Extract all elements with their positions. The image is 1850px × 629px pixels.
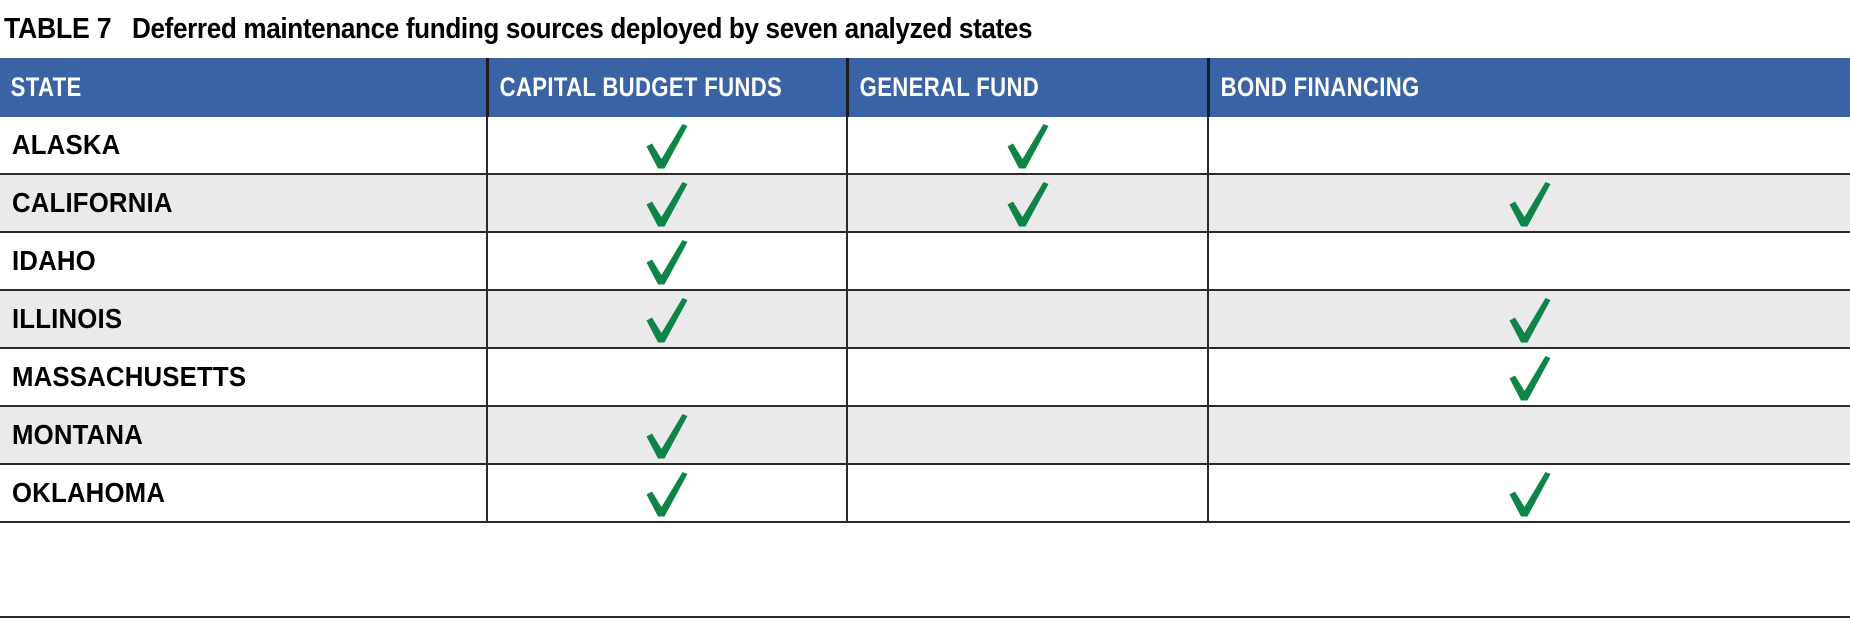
- funding-source-cell-bond: [1208, 232, 1850, 290]
- funding-source-cell-bond: [1208, 348, 1850, 406]
- check-mark-icon: [1504, 467, 1556, 519]
- state-name-cell: MONTANA: [0, 406, 487, 464]
- state-name-label: ILLINOIS: [0, 303, 447, 335]
- funding-source-cell-general: [847, 348, 1208, 406]
- table-page: TABLE 7 Deferred maintenance funding sou…: [0, 0, 1850, 629]
- column-header-capital-budget-funds-label: CAPITAL BUDGET FUNDS: [489, 72, 782, 103]
- state-name-cell: CALIFORNIA: [0, 174, 487, 232]
- funding-source-cell-capital: [487, 464, 847, 522]
- check-mark-icon: [1504, 351, 1556, 403]
- table-row: ILLINOIS: [0, 290, 1850, 348]
- table-header: STATE CAPITAL BUDGET FUNDS GENERAL FUND …: [0, 58, 1850, 117]
- funding-source-cell-general: [847, 464, 1208, 522]
- column-header-bond-financing-label: BOND FINANCING: [1210, 72, 1735, 103]
- state-name-label: CALIFORNIA: [0, 187, 447, 219]
- table-row: CALIFORNIA: [0, 174, 1850, 232]
- column-header-state-label: STATE: [0, 72, 398, 103]
- column-header-state: STATE: [0, 58, 487, 117]
- state-name-cell: ALASKA: [0, 117, 487, 174]
- table-row: IDAHO: [0, 232, 1850, 290]
- table-bottom-rule: [0, 616, 1850, 618]
- table-number-label: TABLE 7: [4, 13, 111, 46]
- state-name-cell: OKLAHOMA: [0, 464, 487, 522]
- state-name-cell: ILLINOIS: [0, 290, 487, 348]
- check-mark-icon: [1002, 177, 1054, 229]
- funding-source-cell-bond: [1208, 174, 1850, 232]
- table-row: MASSACHUSETTS: [0, 348, 1850, 406]
- page-title: TABLE 7 Deferred maintenance funding sou…: [0, 0, 1850, 58]
- funding-source-cell-general: [847, 290, 1208, 348]
- table-row: MONTANA: [0, 406, 1850, 464]
- funding-source-cell-capital: [487, 174, 847, 232]
- check-mark-icon: [641, 119, 693, 171]
- state-name-label: MONTANA: [0, 419, 447, 451]
- column-header-general-fund: GENERAL FUND: [847, 58, 1208, 117]
- funding-source-cell-capital: [487, 348, 847, 406]
- funding-source-cell-general: [847, 117, 1208, 174]
- funding-source-cell-capital: [487, 232, 847, 290]
- state-name-label: OKLAHOMA: [0, 477, 447, 509]
- funding-source-cell-capital: [487, 290, 847, 348]
- table-header-row: STATE CAPITAL BUDGET FUNDS GENERAL FUND …: [0, 58, 1850, 117]
- table-body: ALASKACALIFORNIAIDAHOILLINOISMASSACHUSET…: [0, 117, 1850, 522]
- check-mark-icon: [1504, 293, 1556, 345]
- funding-source-cell-general: [847, 174, 1208, 232]
- table-row: OKLAHOMA: [0, 464, 1850, 522]
- check-mark-icon: [641, 409, 693, 461]
- column-header-capital-budget-funds: CAPITAL BUDGET FUNDS: [487, 58, 847, 117]
- table-row: ALASKA: [0, 117, 1850, 174]
- funding-sources-table: STATE CAPITAL BUDGET FUNDS GENERAL FUND …: [0, 58, 1850, 523]
- check-mark-icon: [1002, 119, 1054, 171]
- funding-source-cell-capital: [487, 406, 847, 464]
- table-title-text: Deferred maintenance funding sources dep…: [132, 13, 1032, 46]
- check-mark-icon: [1504, 177, 1556, 229]
- funding-source-cell-bond: [1208, 290, 1850, 348]
- state-name-label: ALASKA: [0, 129, 447, 161]
- check-mark-icon: [641, 235, 693, 287]
- funding-source-cell-bond: [1208, 464, 1850, 522]
- funding-source-cell-bond: [1208, 117, 1850, 174]
- funding-source-cell-bond: [1208, 406, 1850, 464]
- column-header-bond-financing: BOND FINANCING: [1208, 58, 1850, 117]
- funding-source-cell-general: [847, 406, 1208, 464]
- check-mark-icon: [641, 177, 693, 229]
- funding-source-cell-capital: [487, 117, 847, 174]
- state-name-label: MASSACHUSETTS: [0, 361, 447, 393]
- check-mark-icon: [641, 467, 693, 519]
- funding-source-cell-general: [847, 232, 1208, 290]
- column-header-general-fund-label: GENERAL FUND: [849, 72, 1143, 103]
- check-mark-icon: [641, 293, 693, 345]
- state-name-cell: MASSACHUSETTS: [0, 348, 487, 406]
- state-name-label: IDAHO: [0, 245, 447, 277]
- state-name-cell: IDAHO: [0, 232, 487, 290]
